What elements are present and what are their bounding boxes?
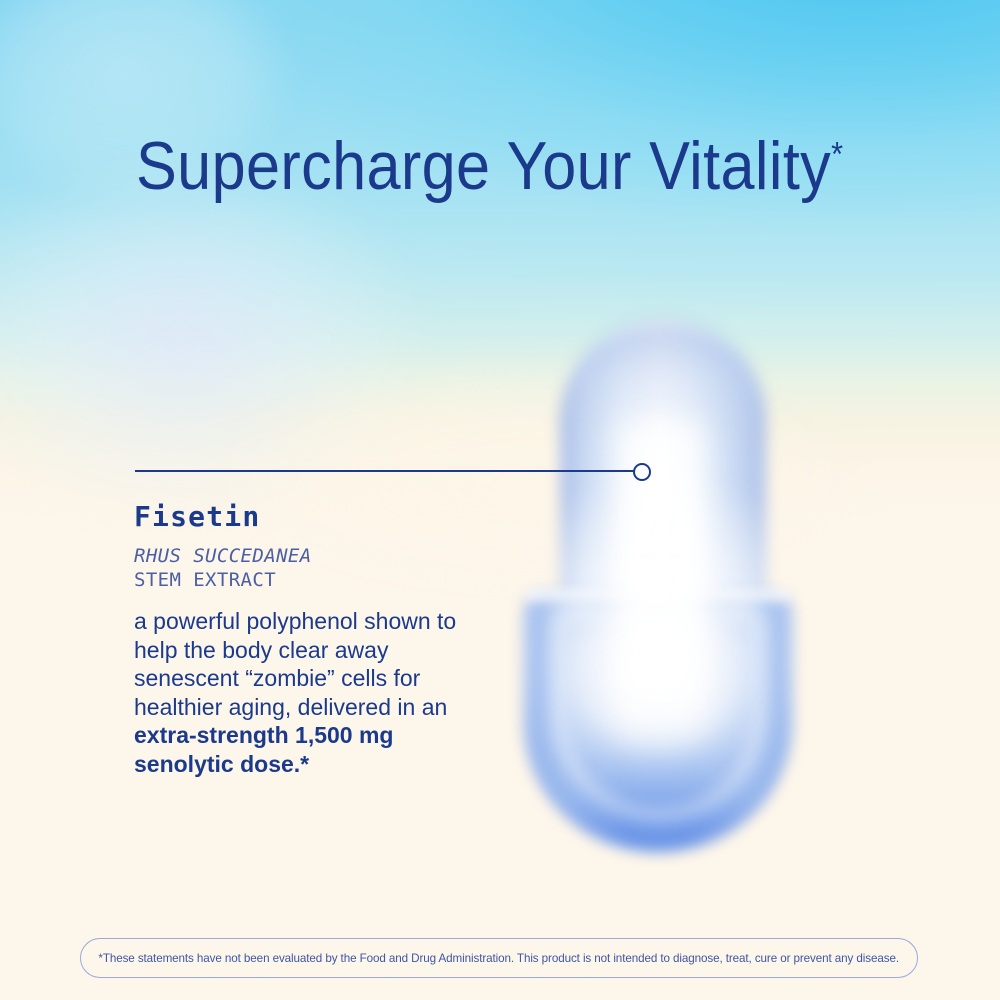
product-graphic-canvas: Supercharge Your Vitality* Fisetin RHUS … [0,0,1000,1000]
callout-endpoint-circle-icon [633,463,651,481]
ingredient-latin-name: RHUS SUCCEDANEA [134,547,312,566]
headline-text: Supercharge Your Vitality [136,128,831,204]
ingredient-name: Fisetin [134,500,260,533]
page-title: Supercharge Your Vitality* [136,132,856,200]
ingredient-description: a powerful polyphenol shown to help the … [134,607,464,778]
disclaimer-container: *These statements have not been evaluate… [80,938,918,978]
description-bold-text: extra-strength 1,500 mg senolytic dose.* [134,722,393,777]
disclaimer-text: *These statements have not been evaluate… [99,951,900,965]
headline-footnote-marker: * [831,135,843,173]
capsule-illustration [470,300,870,880]
ingredient-plant-part: STEM EXTRACT [134,571,276,590]
callout-leader-line [135,470,635,472]
description-plain-text: a powerful polyphenol shown to help the … [134,608,456,720]
